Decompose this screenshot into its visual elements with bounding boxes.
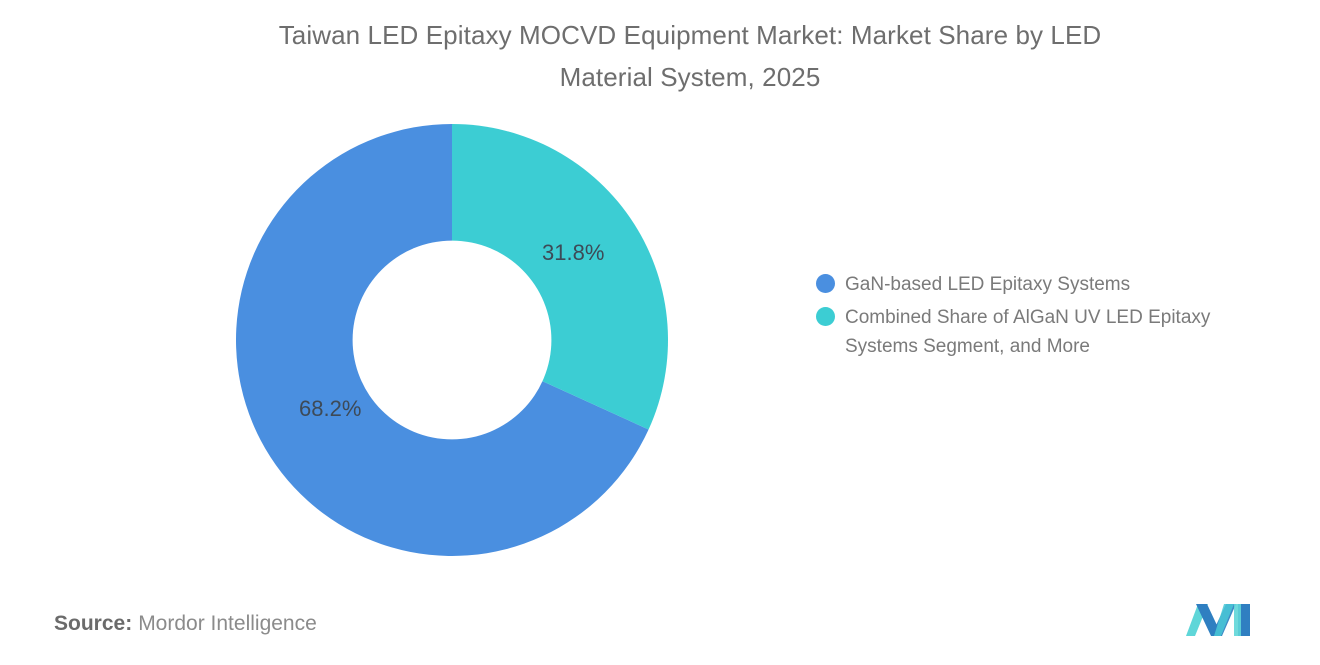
legend-item-gan-based[interactable]: GaN-based LED Epitaxy Systems bbox=[816, 270, 1286, 299]
legend-label: GaN-based LED Epitaxy Systems bbox=[845, 270, 1130, 299]
donut-chart bbox=[236, 124, 668, 556]
source-label: Source: bbox=[54, 612, 132, 635]
chart-canvas: Taiwan LED Epitaxy MOCVD Equipment Marke… bbox=[0, 0, 1320, 665]
logo-svg bbox=[1184, 596, 1258, 640]
source-value: Mordor Intelligence bbox=[138, 612, 317, 635]
slice-label-gan-based: 68.2% bbox=[299, 396, 361, 422]
legend-swatch-icon bbox=[816, 307, 835, 326]
chart-legend: GaN-based LED Epitaxy Systems Combined S… bbox=[816, 270, 1286, 365]
page-title: Taiwan LED Epitaxy MOCVD Equipment Marke… bbox=[160, 14, 1220, 98]
source-attribution: Source:Mordor Intelligence bbox=[54, 612, 317, 636]
donut-hole bbox=[353, 241, 552, 440]
slice-label-combined-share: 31.8% bbox=[542, 240, 604, 266]
legend-label: Combined Share of AlGaN UV LED Epitaxy S… bbox=[845, 303, 1275, 361]
donut-svg bbox=[236, 124, 668, 556]
legend-swatch-icon bbox=[816, 274, 835, 293]
mordor-intelligence-logo-icon bbox=[1184, 596, 1258, 640]
legend-item-combined-share[interactable]: Combined Share of AlGaN UV LED Epitaxy S… bbox=[816, 303, 1286, 361]
